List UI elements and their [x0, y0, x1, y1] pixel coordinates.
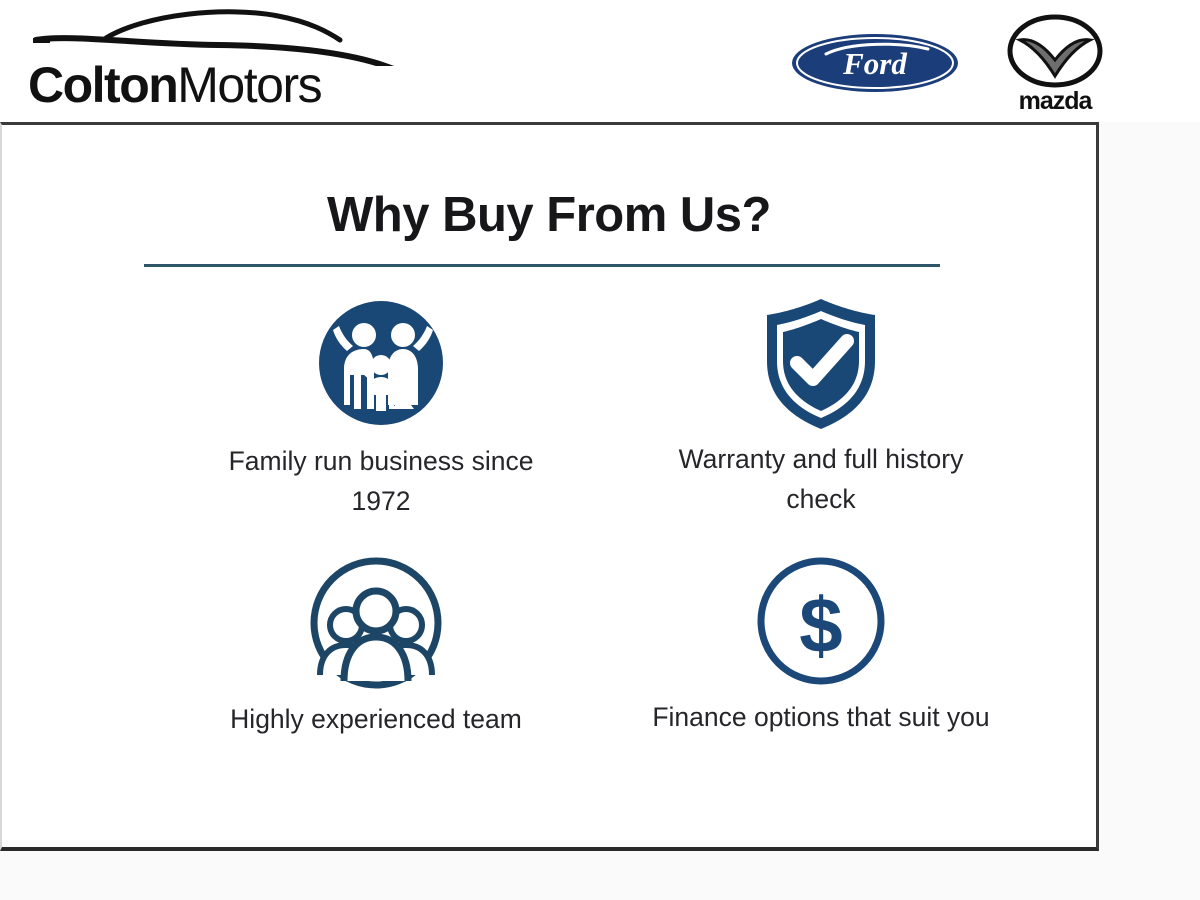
svg-text:$: $ — [799, 581, 842, 669]
feature-label: Family run business since 1972 — [206, 441, 556, 521]
mazda-wings-logo[interactable]: mazda — [1002, 14, 1108, 114]
feature-label: Finance options that suit you — [646, 697, 996, 737]
mazda-wordmark: mazda — [1019, 87, 1094, 114]
family-group-icon — [311, 293, 451, 433]
content-card: Why Buy From Us? Family run busines — [0, 122, 1099, 851]
brand-logo[interactable]: ColtonMotors — [28, 8, 448, 116]
svg-text:Ford: Ford — [842, 46, 907, 81]
ford-oval-logo[interactable]: Ford — [790, 32, 960, 94]
shield-check-icon — [751, 293, 891, 433]
feature-grid: Family run business since 1972 Warranty … — [122, 293, 982, 809]
dollar-sign-circle-icon: $ — [751, 551, 891, 691]
page-title: Why Buy From Us? — [2, 187, 1096, 243]
feature-label: Warranty and full history check — [646, 439, 996, 519]
brand-name-light: Motors — [177, 57, 321, 113]
brand-name-bold: Colton — [28, 57, 177, 113]
page-header: ColtonMotors Ford mazda — [0, 0, 1200, 122]
people-team-icon — [306, 553, 446, 693]
brand-wordmark: ColtonMotors — [28, 56, 321, 114]
feature-item-team[interactable]: Highly experienced team — [122, 551, 542, 809]
title-divider — [144, 264, 940, 267]
feature-item-finance[interactable]: $ Finance options that suit you — [562, 551, 982, 809]
feature-item-family[interactable]: Family run business since 1972 — [122, 293, 542, 551]
feature-label: Highly experienced team — [201, 699, 551, 739]
feature-item-warranty[interactable]: Warranty and full history check — [562, 293, 982, 551]
